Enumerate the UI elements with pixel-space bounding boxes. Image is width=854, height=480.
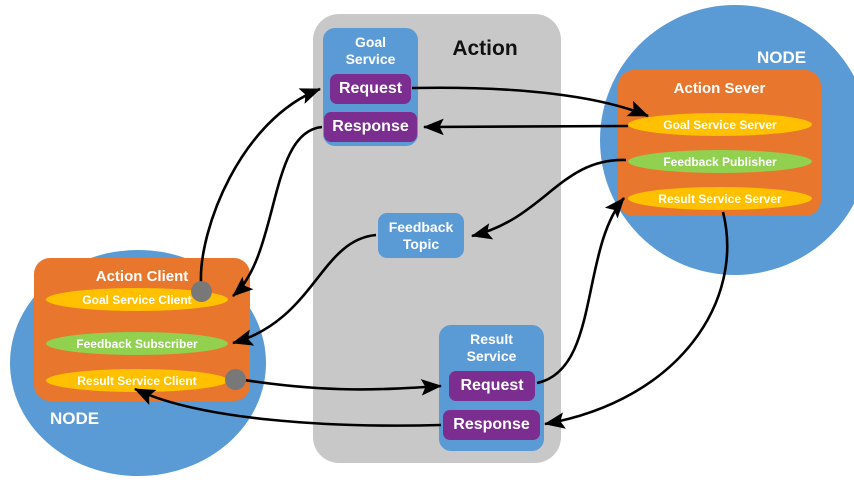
feedback-topic-title: Feedback Topic [378,219,464,253]
client-node-label: NODE [50,409,99,429]
goal-service-title-line1: Goal [355,34,386,50]
endpoint-feedback-publisher[interactable]: Feedback Publisher [628,150,812,173]
endpoint-result-service-client[interactable]: Result Service Client [46,369,228,392]
action-group-label: Action [420,37,550,61]
goal-service-request-chip[interactable]: Request [330,74,411,104]
endpoint-goal-service-server[interactable]: Goal Service Server [628,113,812,136]
feedback-topic-title-line1: Feedback [389,219,454,235]
goal-service-response-chip[interactable]: Response [324,112,417,142]
diagram-canvas: Action Action Sever NODE Goal Service Se… [0,0,854,480]
endpoint-result-service-server[interactable]: Result Service Server [628,187,812,210]
result-service-response-chip[interactable]: Response [443,410,540,440]
result-service-title-line2: Service [467,348,517,364]
arrow-goal-client-to-request [201,89,320,282]
result-service-request-chip[interactable]: Request [449,371,535,401]
connection-dot-result-client [225,369,246,390]
result-service-title: Result Service [439,331,544,365]
goal-service-title-line2: Service [346,51,396,67]
goal-service-title: Goal Service [323,34,418,68]
connection-dot-goal-client [191,281,212,302]
server-node-label: NODE [757,48,806,68]
action-server-title: Action Sever [618,80,821,97]
feedback-topic-box[interactable]: Feedback Topic [378,213,464,258]
endpoint-feedback-subscriber[interactable]: Feedback Subscriber [46,332,228,355]
result-service-title-line1: Result [470,331,513,347]
action-client-title: Action Client [34,268,250,285]
feedback-topic-title-line2: Topic [403,236,439,252]
